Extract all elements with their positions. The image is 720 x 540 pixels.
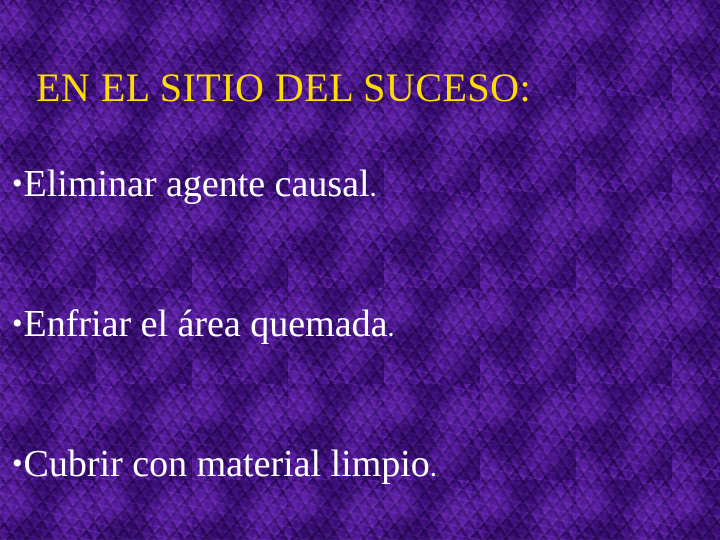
slide-content: EN EL SITIO DEL SUCESO: •Eliminar agente… <box>0 0 720 540</box>
bullet-list-item: •Cubrir con material limpio. <box>12 440 437 492</box>
bullet-item-terminator: . <box>430 452 437 483</box>
slide-title: EN EL SITIO DEL SUCESO: <box>36 64 531 112</box>
bullet-item-terminator: . <box>387 312 394 343</box>
bullet-item-label: Eliminar agente causal <box>24 163 370 205</box>
presentation-slide: EN EL SITIO DEL SUCESO: •Eliminar agente… <box>0 0 720 540</box>
bullet-item-label: Enfriar el área quemada <box>24 303 388 345</box>
bullet-list-item: •Enfriar el área quemada. <box>12 300 394 352</box>
bullet-point-icon: • <box>12 167 23 200</box>
bullet-item-label: Cubrir con material limpio <box>24 443 430 485</box>
bullet-point-icon: • <box>12 307 23 340</box>
bullet-point-icon: • <box>12 447 23 480</box>
bullet-list-item: •Eliminar agente causal. <box>12 160 377 212</box>
bullet-item-terminator: . <box>370 172 377 203</box>
